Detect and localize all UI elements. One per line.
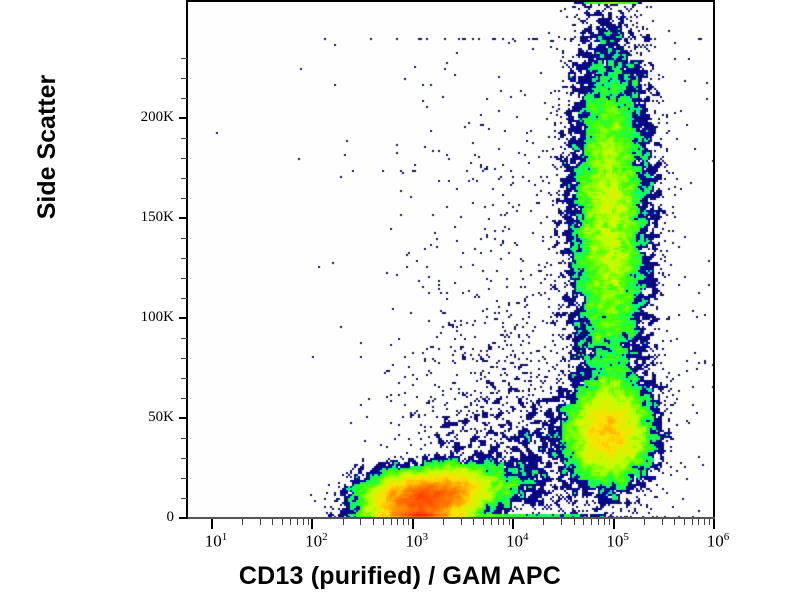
x-tick-major — [211, 519, 213, 529]
x-tick-minor — [684, 519, 685, 525]
y-axis-title: Side Scatter — [33, 75, 62, 220]
x-tick-minor — [662, 519, 663, 525]
y-tick-minor — [181, 138, 187, 139]
x-tick-minor — [498, 519, 499, 525]
y-tick-minor — [181, 258, 187, 259]
x-tick-major — [311, 519, 313, 529]
y-tick-major — [179, 517, 188, 519]
y-tick-minor — [181, 178, 187, 179]
x-tick-minor — [561, 519, 562, 525]
plot-border-top — [186, 0, 715, 2]
x-tick-minor — [709, 519, 710, 525]
x-tick-minor — [473, 519, 474, 525]
x-tick-minor — [644, 519, 645, 525]
y-tick-major — [179, 117, 188, 119]
x-tick-minor — [503, 519, 504, 525]
x-tick-minor — [272, 519, 273, 525]
y-tick-minor — [181, 438, 187, 439]
x-tick-minor — [403, 519, 404, 525]
x-tick-minor — [303, 519, 304, 525]
x-tick-minor — [443, 519, 444, 525]
x-tick-minor — [509, 519, 510, 525]
x-tick-minor — [343, 519, 344, 525]
x-tick-minor — [397, 519, 398, 525]
x-axis-title: CD13 (purified) / GAM APC — [0, 562, 800, 591]
x-tick-minor — [408, 519, 409, 525]
y-tick-minor — [181, 238, 187, 239]
x-tick-minor — [483, 519, 484, 525]
x-tick-minor — [698, 519, 699, 525]
x-tick-major — [713, 519, 715, 529]
x-tick-label: 106 — [707, 531, 730, 552]
x-tick-label: 104 — [506, 531, 529, 552]
y-tick-minor — [181, 58, 187, 59]
x-tick-minor — [308, 519, 309, 525]
y-axis-title-wrapper: Side Scatter — [30, 0, 64, 327]
y-tick-minor — [181, 338, 187, 339]
y-tick-minor — [181, 198, 187, 199]
x-tick-minor — [491, 519, 492, 525]
x-tick-minor — [674, 519, 675, 525]
y-tick-label: 200K — [108, 110, 174, 125]
x-tick-minor — [290, 519, 291, 525]
x-tick-minor — [360, 519, 361, 525]
y-tick-major — [179, 417, 188, 419]
y-tick-minor — [181, 378, 187, 379]
x-tick-minor — [543, 519, 544, 525]
x-tick-major — [412, 519, 414, 529]
y-tick-minor — [181, 78, 187, 79]
x-tick-minor — [383, 519, 384, 525]
x-tick-minor — [598, 519, 599, 525]
x-tick-label: 101 — [205, 531, 228, 552]
x-tick-label: 102 — [305, 531, 328, 552]
y-tick-minor — [181, 298, 187, 299]
x-tick-minor — [604, 519, 605, 525]
x-tick-minor — [461, 519, 462, 525]
x-tick-minor — [282, 519, 283, 525]
scatter-density-canvas — [188, 0, 715, 519]
y-tick-minor — [181, 458, 187, 459]
y-tick-minor — [181, 398, 187, 399]
y-tick-major — [179, 317, 188, 319]
y-tick-minor — [181, 278, 187, 279]
flow-cytometry-figure: 050K100K150K200K 101102103104105106 CD13… — [0, 0, 800, 600]
x-tick-minor — [574, 519, 575, 525]
x-tick-minor — [591, 519, 592, 525]
scatter-plot-area — [188, 0, 715, 519]
x-tick-minor — [692, 519, 693, 525]
y-tick-minor — [181, 478, 187, 479]
x-tick-minor — [583, 519, 584, 525]
x-tick-minor — [391, 519, 392, 525]
y-tick-minor — [181, 98, 187, 99]
y-tick-label: 0 — [108, 510, 174, 525]
y-tick-minor — [181, 358, 187, 359]
x-tick-major — [512, 519, 514, 529]
plot-axis-x — [186, 517, 715, 519]
x-tick-minor — [260, 519, 261, 525]
x-tick-label: 105 — [606, 531, 629, 552]
y-tick-label: 50K — [108, 410, 174, 425]
x-tick-minor — [297, 519, 298, 525]
y-tick-label: 100K — [108, 310, 174, 325]
y-tick-minor — [181, 158, 187, 159]
x-tick-label: 103 — [406, 531, 429, 552]
y-tick-minor — [181, 498, 187, 499]
x-tick-minor — [373, 519, 374, 525]
x-tick-major — [613, 519, 615, 529]
y-tick-major — [179, 217, 188, 219]
x-tick-minor — [609, 519, 610, 525]
plot-border-right — [713, 0, 715, 519]
y-tick-label: 150K — [108, 210, 174, 225]
x-tick-minor — [704, 519, 705, 525]
x-tick-minor — [242, 519, 243, 525]
